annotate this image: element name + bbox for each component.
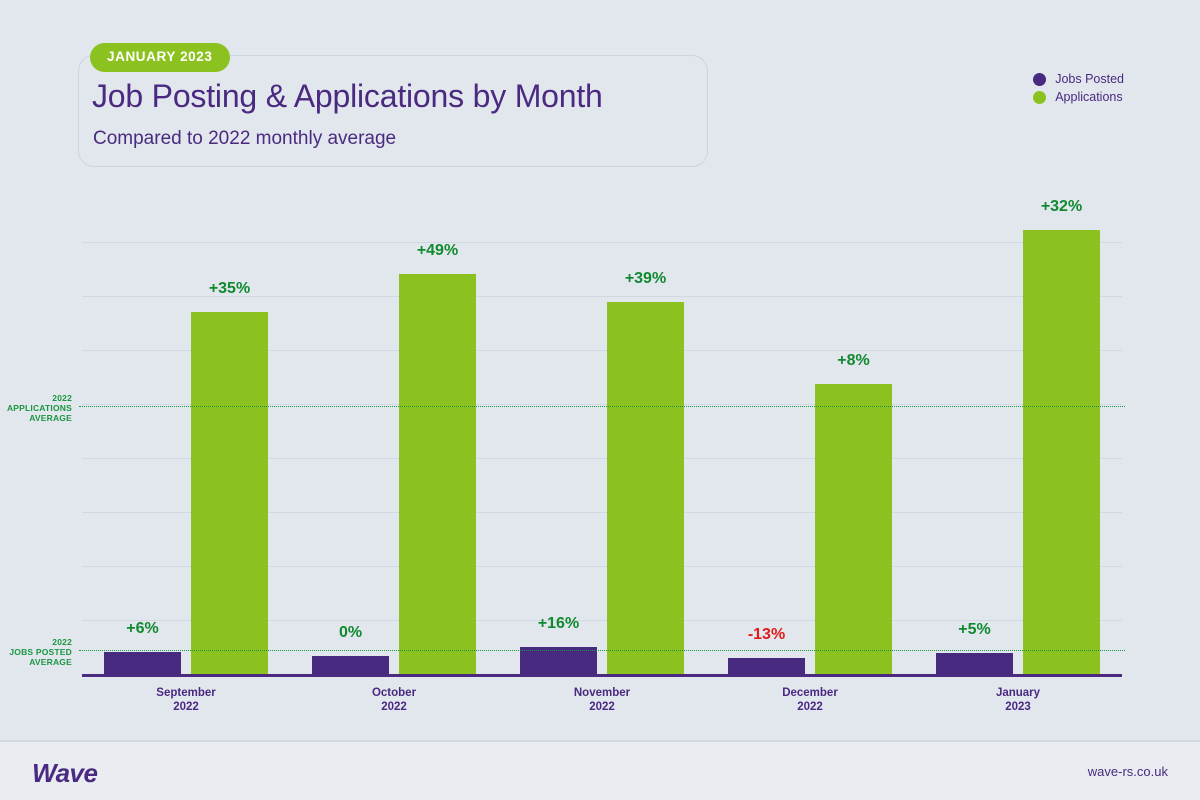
reference-line-caption: 2022JOBS POSTEDAVERAGE [0, 637, 72, 667]
x-axis-label: January2023 [914, 686, 1122, 714]
page-subtitle: Compared to 2022 monthly average [93, 128, 396, 150]
footer-url[interactable]: wave-rs.co.uk [1088, 764, 1168, 779]
bar-jobs-posted[interactable] [104, 652, 181, 674]
x-axis-label: December2022 [706, 686, 914, 714]
reference-line-caption-line: APPLICATIONS [0, 403, 72, 413]
bar-value-label-applications: +8% [815, 352, 892, 370]
x-axis-label-line: October [290, 686, 498, 700]
page-title: Job Posting & Applications by Month [92, 78, 603, 115]
gridline [82, 242, 1122, 243]
reference-line [79, 406, 1125, 407]
bar-jobs-posted[interactable] [728, 658, 805, 674]
date-badge: JANUARY 2023 [90, 43, 230, 72]
reference-line-caption-line: 2022 [0, 637, 72, 647]
x-axis-label-line: 2022 [290, 700, 498, 714]
bar-applications[interactable] [607, 302, 684, 674]
reference-line-caption-line: AVERAGE [0, 413, 72, 423]
reference-line-caption-line: JOBS POSTED [0, 647, 72, 657]
wave-logo: Wave [32, 758, 97, 789]
reference-line [79, 650, 1125, 651]
bar-applications[interactable] [1023, 230, 1100, 674]
bar-jobs-posted[interactable] [312, 656, 389, 674]
x-axis-label-line: 2022 [706, 700, 914, 714]
bar-value-label-jobs: +6% [104, 620, 181, 638]
bar-applications[interactable] [399, 274, 476, 674]
bar-applications[interactable] [815, 384, 892, 674]
x-axis-label-line: November [498, 686, 706, 700]
reference-line-caption: 2022APPLICATIONSAVERAGE [0, 393, 72, 423]
x-axis-label: November2022 [498, 686, 706, 714]
x-axis-label-line: 2023 [914, 700, 1122, 714]
chart-legend: Jobs PostedApplications [1033, 72, 1124, 108]
x-axis-label-line: September [82, 686, 290, 700]
footer [0, 741, 1200, 800]
reference-line-caption-line: AVERAGE [0, 657, 72, 667]
legend-item-jobs-posted[interactable]: Jobs Posted [1033, 72, 1124, 86]
bar-value-label-jobs: +16% [520, 615, 597, 633]
reference-line-caption-line: 2022 [0, 393, 72, 403]
bar-value-label-applications: +49% [399, 242, 476, 260]
bar-value-label-jobs: +5% [936, 621, 1013, 639]
x-axis-label: October2022 [290, 686, 498, 714]
x-axis-label-line: 2022 [82, 700, 290, 714]
bar-jobs-posted[interactable] [936, 653, 1013, 674]
x-axis-label-line: December [706, 686, 914, 700]
circle-icon [1033, 91, 1046, 104]
chart-plot-area: +6%+35%0%+49%+16%+39%-13%+8%+5%+32% 2022… [82, 188, 1122, 674]
chart-x-axis-line [82, 674, 1122, 677]
x-axis-label: September2022 [82, 686, 290, 714]
x-axis-label-line: January [914, 686, 1122, 700]
bar-applications[interactable] [191, 312, 268, 674]
bar-value-label-applications: +35% [191, 280, 268, 298]
legend-item-label: Applications [1055, 90, 1122, 104]
x-axis-label-line: 2022 [498, 700, 706, 714]
legend-item-label: Jobs Posted [1055, 72, 1124, 86]
legend-item-applications[interactable]: Applications [1033, 90, 1124, 104]
bar-value-label-applications: +39% [607, 270, 684, 288]
bar-value-label-jobs: 0% [312, 624, 389, 642]
bar-value-label-applications: +32% [1023, 198, 1100, 216]
bar-value-label-jobs: -13% [728, 626, 805, 644]
footer-divider [0, 740, 1200, 742]
circle-icon [1033, 73, 1046, 86]
bar-jobs-posted[interactable] [520, 647, 597, 674]
